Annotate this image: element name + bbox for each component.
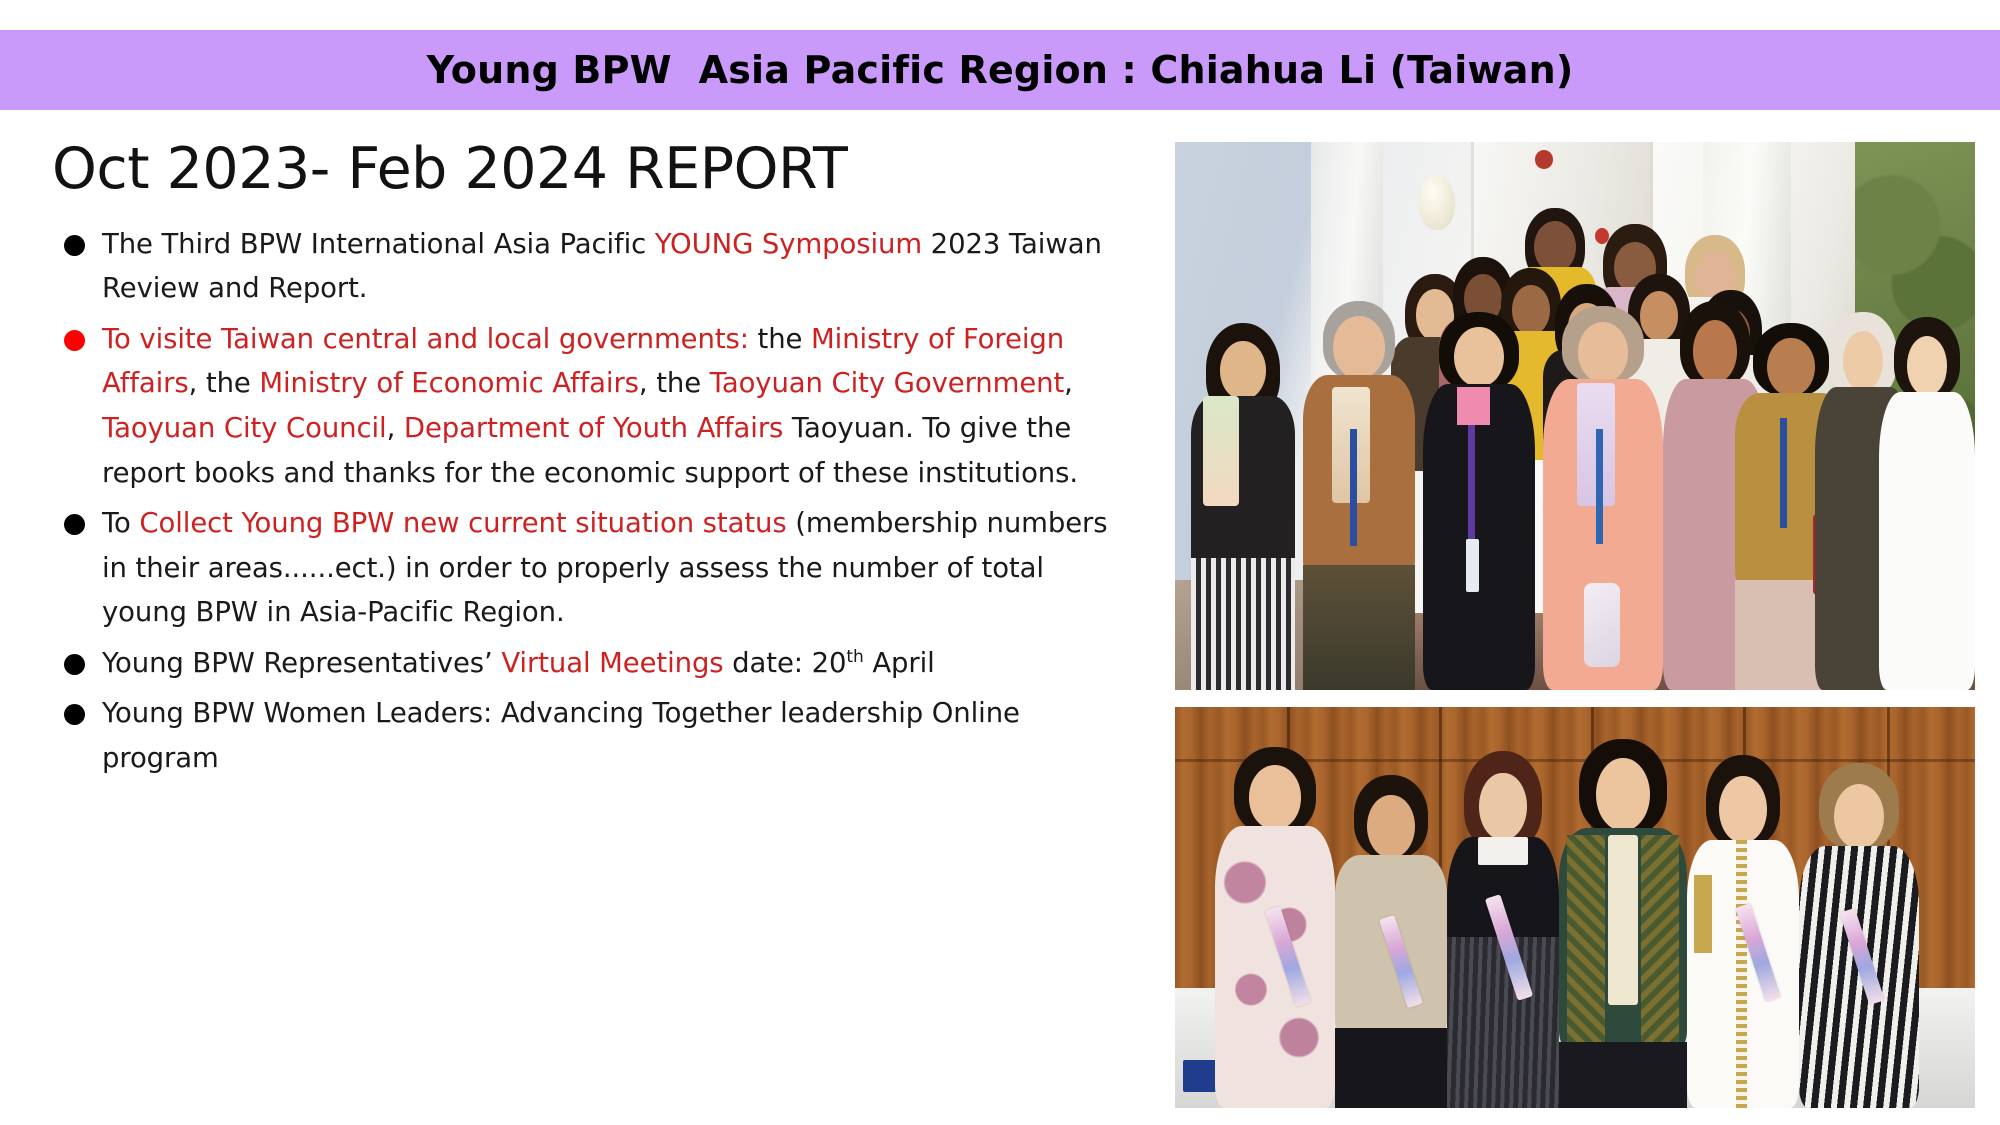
group-photo-symposium-delegates [1175,142,1975,690]
bullet-marker-icon [64,654,85,675]
list-item-text: To Collect Young BPW new current situati… [102,507,1107,628]
list-item: Young BPW Representatives’ Virtual Meeti… [52,641,1120,686]
slide-header-band: Young BPW Asia Pacific Region : Chiahua … [0,30,2000,110]
bullet-list: The Third BPW International Asia Pacific… [52,222,1120,781]
bullet-marker-icon [64,704,85,725]
list-item: To visite Taiwan central and local gover… [52,317,1120,495]
ordinal-suffix: th [846,647,863,667]
list-item-text: Young BPW Representatives’ Virtual Meeti… [102,647,935,679]
list-item: To Collect Young BPW new current situati… [52,501,1120,635]
bullet-marker-icon [64,514,85,535]
header-title: Young BPW Asia Pacific Region : Chiahua … [427,51,1574,89]
list-item-text: To visite Taiwan central and local gover… [102,323,1078,489]
bullet-marker-icon [64,235,85,256]
list-item: The Third BPW International Asia Pacific… [52,222,1120,311]
list-item-text: The Third BPW International Asia Pacific… [102,228,1102,305]
group-photo-six-young-bpw-members [1175,707,1975,1108]
page-title: Oct 2023- Feb 2024 REPORT [52,140,1120,200]
bullet-marker-icon [64,330,85,351]
list-item-text: Young BPW Women Leaders: Advancing Toget… [102,697,1020,774]
slide-content-left: Oct 2023- Feb 2024 REPORT The Third BPW … [0,110,1160,1125]
photo-column [1175,142,1975,1108]
list-item: Young BPW Women Leaders: Advancing Toget… [52,691,1120,780]
